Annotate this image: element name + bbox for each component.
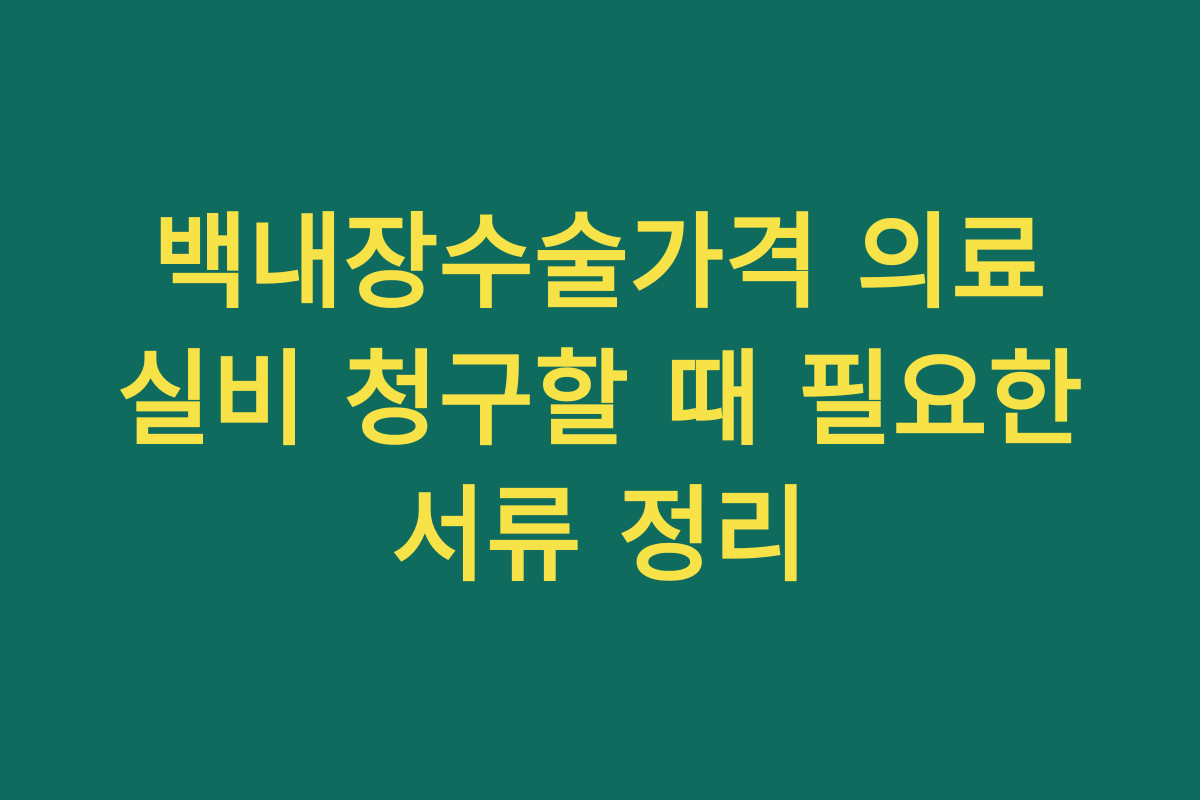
page-title: 백내장수술가격 의료 실비 청구할 때 필요한 서류 정리 [93, 195, 1107, 606]
title-block: 백내장수술가격 의료 실비 청구할 때 필요한 서류 정리 [85, 195, 1115, 606]
thumbnail-card: 백내장수술가격 의료 실비 청구할 때 필요한 서류 정리 [0, 0, 1200, 800]
